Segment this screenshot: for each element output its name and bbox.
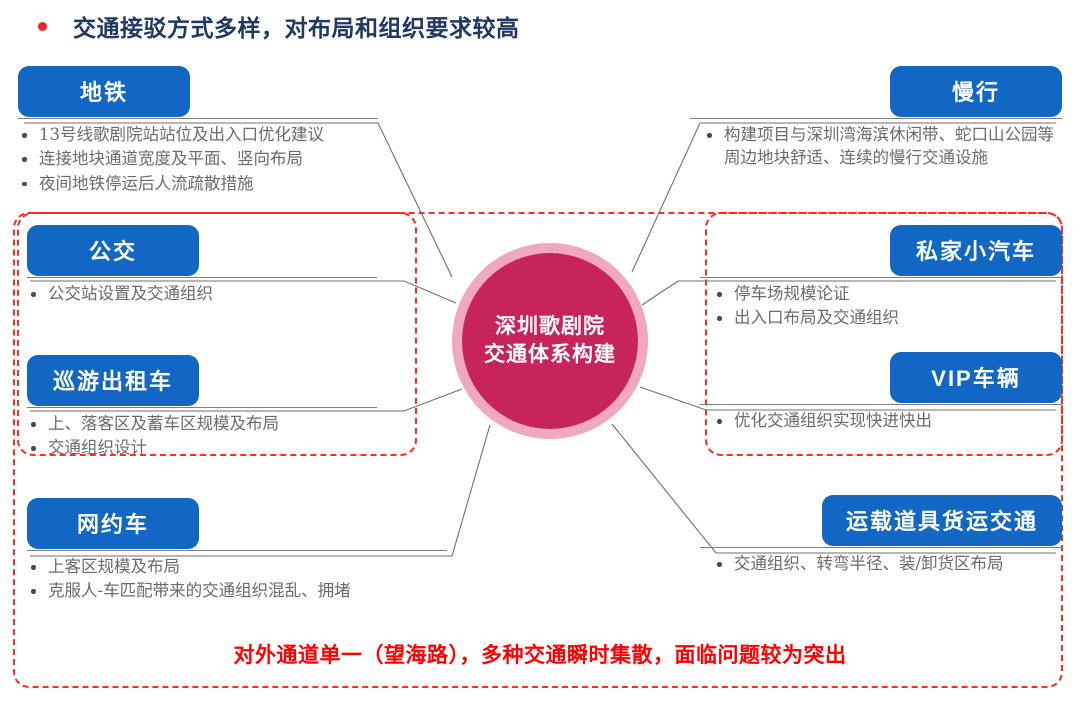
branch-freight: 运载道具货运交通 交通组织、转弯半径、装/卸货区布局 [700,495,1062,576]
branch-private-car-items: 停车场规模论证 出入口布局及交通组织 [700,282,1062,330]
branch-taxi-items: 上、落客区及蓄车区规模及布局 交通组织设计 [27,412,377,460]
branch-vip: VIP车辆 优化交通组织实现快进快出 [700,352,1062,433]
list-item: 克服人-车匹配带来的交通组织混乱、拥堵 [27,579,447,602]
branch-subway-rule [18,118,378,119]
branch-vip-rule [700,404,1062,405]
branch-vip-items: 优化交通组织实现快进快出 [700,409,1062,432]
hub-line-1: 深圳歌剧院 [495,313,605,341]
list-item: 公交站设置及交通组织 [27,282,377,305]
branch-subway: 地铁 13号线歌剧院站站位及出入口优化建议 连接地块通道宽度及平面、竖向布局 夜… [18,66,378,196]
branch-freight-rule [700,547,1062,548]
branch-ridehail-items: 上客区规模及布局 克服人-车匹配带来的交通组织混乱、拥堵 [27,555,447,603]
list-item: 交通组织、转弯半径、装/卸货区布局 [700,552,1062,575]
list-item: 上客区规模及布局 [27,555,447,578]
branch-slow-mobility-label[interactable]: 慢行 [890,66,1062,117]
branch-bus-label[interactable]: 公交 [27,225,199,276]
branch-private-car-rule [700,277,1062,278]
branch-private-car-label[interactable]: 私家小汽车 [890,225,1062,276]
slide-canvas: 交通接驳方式多样，对布局和组织要求较高 深圳歌剧院 交通体系构建 [0,0,1080,703]
hub-line-2: 交通体系构建 [484,341,616,369]
branch-slow-mobility-rule [690,118,1062,119]
branch-bus: 公交 公交站设置及交通组织 [27,225,377,306]
hub-circle: 深圳歌剧院 交通体系构建 [462,253,638,429]
branch-slow-mobility: 慢行 构建项目与深圳湾海滨休闲带、蛇口山公园等周边地块舒适、连续的慢行交通设施 [690,66,1062,171]
branch-vip-label[interactable]: VIP车辆 [890,352,1062,403]
branch-private-car: 私家小汽车 停车场规模论证 出入口布局及交通组织 [700,225,1062,331]
bottom-note: 对外通道单一（望海路），多种交通瞬时集散，面临问题较为突出 [0,639,1080,669]
branch-bus-rule [27,277,377,278]
list-item: 优化交通组织实现快进快出 [700,409,1062,432]
branch-slow-mobility-items: 构建项目与深圳湾海滨休闲带、蛇口山公园等周边地块舒适、连续的慢行交通设施 [690,123,1062,170]
list-item: 构建项目与深圳湾海滨休闲带、蛇口山公园等周边地块舒适、连续的慢行交通设施 [690,123,1062,170]
branch-freight-items: 交通组织、转弯半径、装/卸货区布局 [700,552,1062,575]
branch-subway-items: 13号线歌剧院站站位及出入口优化建议 连接地块通道宽度及平面、竖向布局 夜间地铁… [18,123,378,195]
list-item: 出入口布局及交通组织 [700,306,1062,329]
list-item: 13号线歌剧院站站位及出入口优化建议 [18,123,378,146]
branch-ridehail-rule [27,550,447,551]
branch-ridehail: 网约车 上客区规模及布局 克服人-车匹配带来的交通组织混乱、拥堵 [27,498,447,604]
list-item: 连接地块通道宽度及平面、竖向布局 [18,147,378,170]
list-item: 夜间地铁停运后人流疏散措施 [18,172,378,195]
branch-ridehail-label[interactable]: 网约车 [27,498,199,549]
branch-bus-items: 公交站设置及交通组织 [27,282,377,305]
list-item: 停车场规模论证 [700,282,1062,305]
list-item: 上、落客区及蓄车区规模及布局 [27,412,377,435]
branch-taxi: 巡游出租车 上、落客区及蓄车区规模及布局 交通组织设计 [27,355,377,461]
branch-taxi-rule [27,407,377,408]
list-item: 交通组织设计 [27,436,377,459]
branch-taxi-label[interactable]: 巡游出租车 [27,355,199,406]
branch-freight-label[interactable]: 运载道具货运交通 [822,495,1062,546]
branch-subway-label[interactable]: 地铁 [18,66,190,117]
